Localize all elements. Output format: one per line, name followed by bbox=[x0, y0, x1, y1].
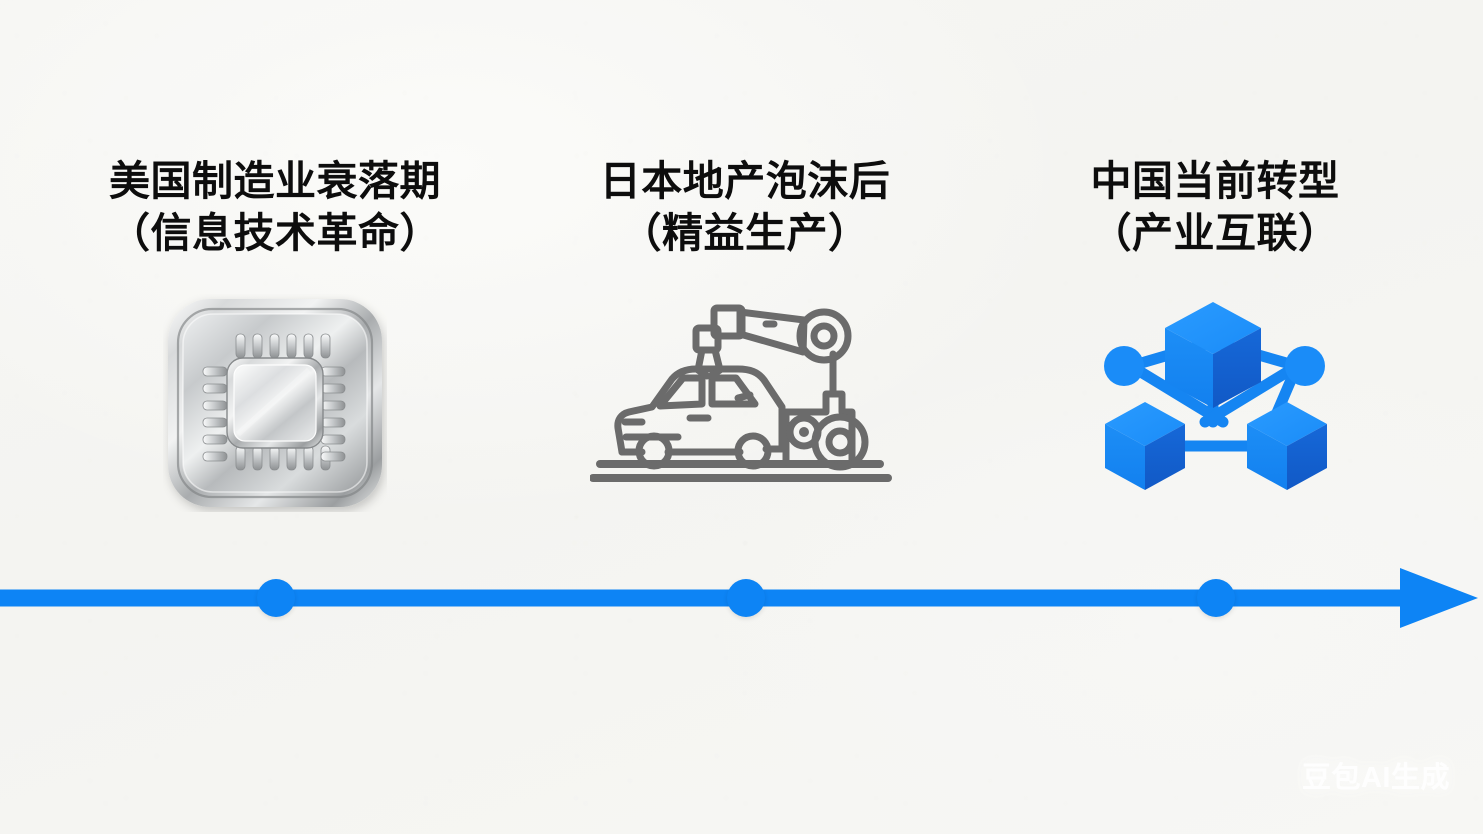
stage-label-us-manufacturing-decline: 美国制造业衰落期 （信息技术革命） bbox=[109, 155, 441, 260]
cube-bottom-left bbox=[1105, 402, 1185, 490]
timeline-arrow-head-icon bbox=[1400, 568, 1478, 628]
icon-container-cpu-chip bbox=[163, 294, 387, 512]
robotic-arm-car-assembly-icon bbox=[590, 294, 900, 489]
watermark-label: 豆包AI生成 bbox=[1302, 754, 1450, 796]
stage-column-japan-post-property-bubble: 日本地产泡沫后 （精益生产） bbox=[545, 0, 945, 560]
stage-label-china-current-transformation: 中国当前转型 （产业互联） bbox=[1091, 155, 1340, 260]
stage-column-china-current-transformation: 中国当前转型 （产业互联） bbox=[1020, 0, 1410, 560]
timeline-node-us-manufacturing-decline[interactable] bbox=[257, 579, 295, 617]
icon-container-robotic-arm-car-assembly bbox=[590, 294, 900, 489]
timeline-node-china-current-transformation[interactable] bbox=[1197, 579, 1235, 617]
node-dot-left bbox=[1104, 346, 1144, 386]
stage-label-japan-post-property-bubble: 日本地产泡沫后 （精益生产） bbox=[600, 155, 891, 260]
network-blockchain-icon bbox=[1097, 294, 1333, 494]
timeline-infographic-slide: 美国制造业衰落期 （信息技术革命） bbox=[0, 0, 1483, 834]
node-dot-right bbox=[1285, 346, 1325, 386]
cpu-chip-icon bbox=[163, 294, 387, 512]
timeline-node-japan-post-property-bubble[interactable] bbox=[727, 579, 765, 617]
icon-container-network-blockchain bbox=[1097, 294, 1333, 494]
cube-bottom-right bbox=[1247, 402, 1327, 490]
stage-column-us-manufacturing-decline: 美国制造业衰落期 （信息技术革命） bbox=[40, 0, 510, 560]
